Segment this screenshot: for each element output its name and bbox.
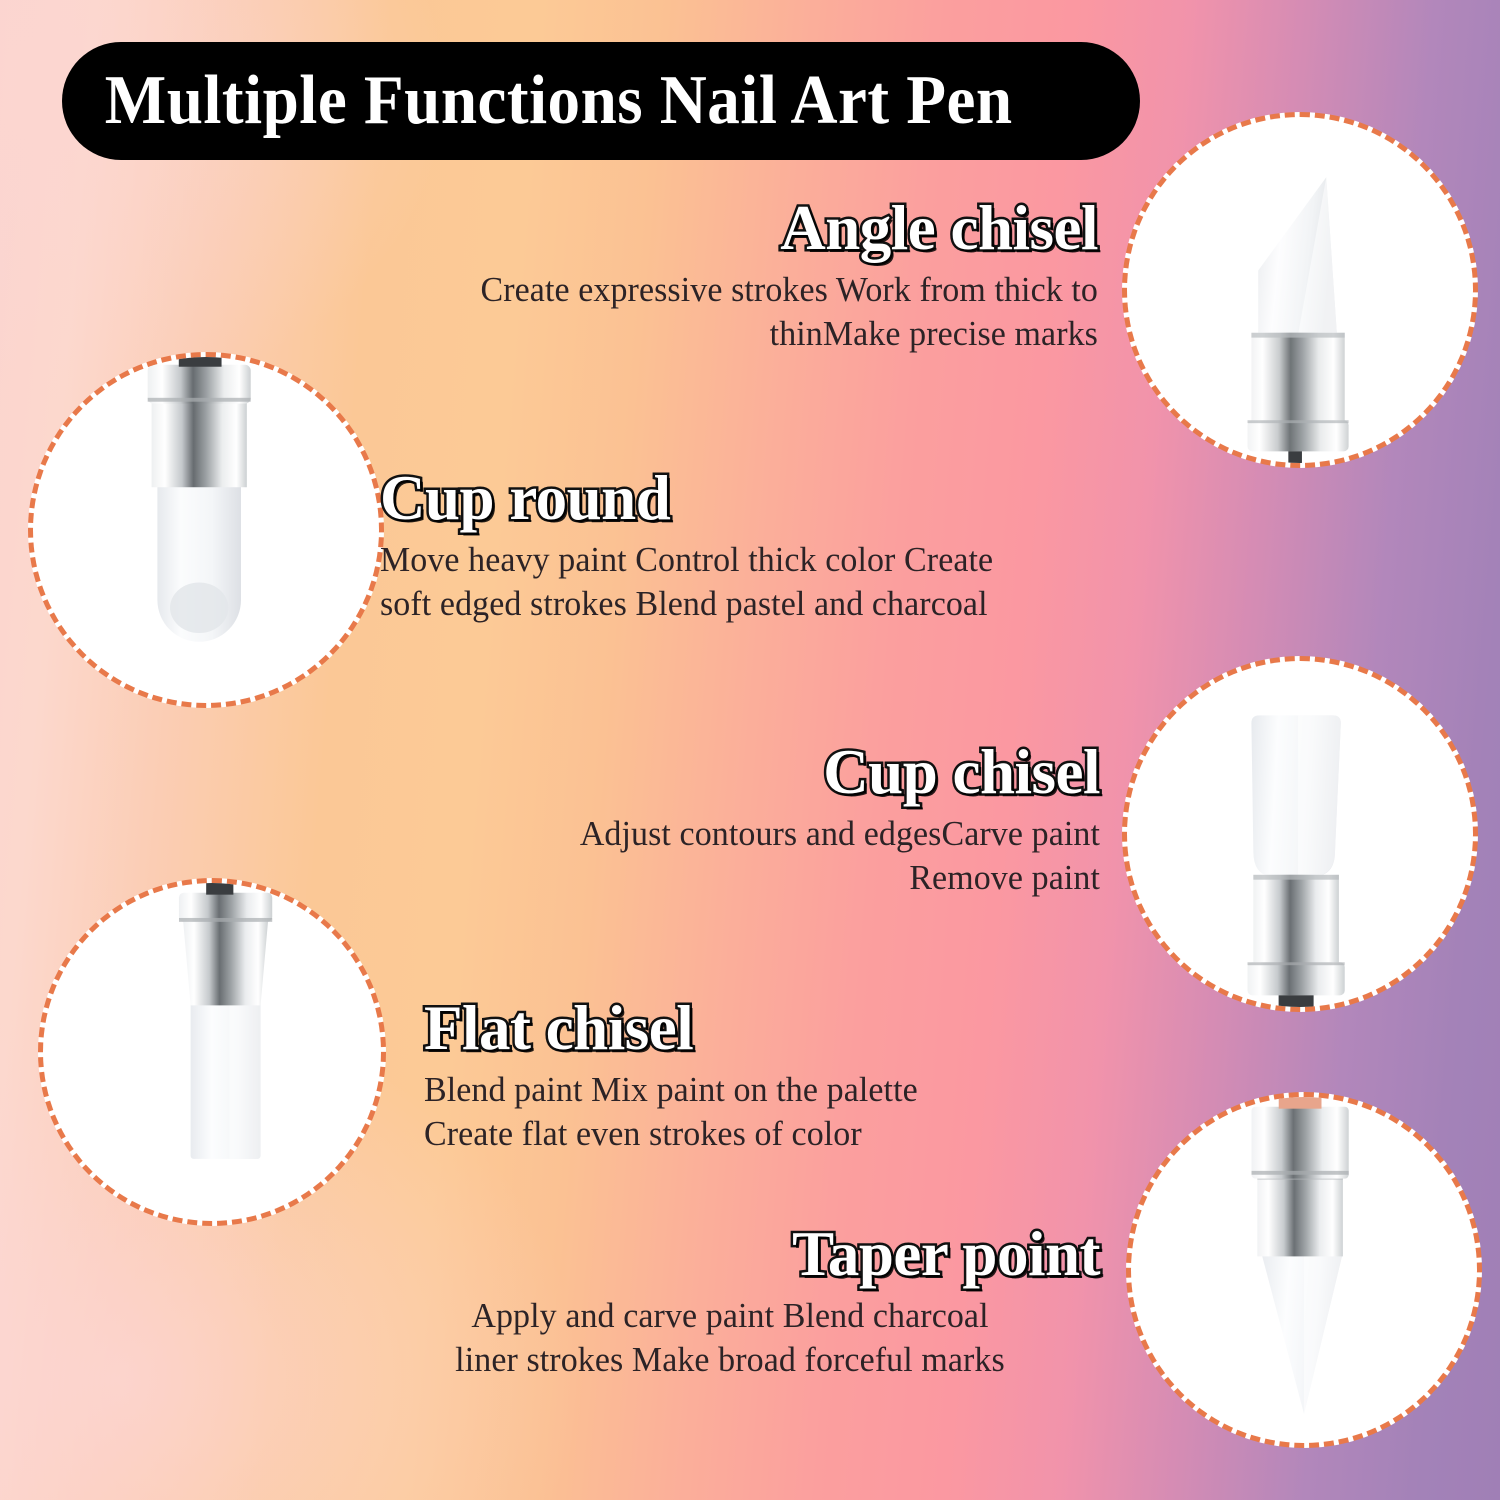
desc-line: Blend paint Mix paint on the palette (424, 1070, 918, 1109)
desc-line: Apply and carve paint Blend charcoal (471, 1296, 988, 1335)
cup-chisel-tip-icon (1127, 661, 1473, 1007)
infographic-poster: Multiple Functions Nail Art Pen (0, 0, 1500, 1500)
desc-line: soft edged strokes Blend pastel and char… (380, 584, 988, 623)
desc-line: Create flat even strokes of color (424, 1114, 862, 1153)
feature-block-angle-chisel: Angle chisel Create expressive strokes W… (258, 196, 1098, 356)
feature-block-cup-chisel: Cup chisel Adjust contours and edgesCarv… (370, 740, 1100, 900)
page-title: Multiple Functions Nail Art Pen (62, 66, 1013, 136)
flat-chisel-tip-icon (43, 883, 381, 1221)
desc-line: liner strokes Make broad forceful marks (455, 1340, 1005, 1379)
desc-line: thinMake precise marks (770, 314, 1098, 353)
feature-description-cup-round: Move heavy paint Control thick color Cre… (380, 538, 1195, 626)
tip-image-cup-round (28, 352, 384, 708)
feature-heading-cup-round: Cup round (380, 466, 1220, 532)
feature-heading-flat-chisel: Flat chisel (424, 996, 1084, 1062)
desc-line: Create expressive strokes Work from thic… (480, 270, 1098, 309)
feature-heading-angle-chisel: Angle chisel (258, 196, 1098, 262)
cup-round-tip-icon (33, 357, 379, 703)
feature-description-taper-point: Apply and carve paint Blend charcoal lin… (371, 1294, 1089, 1382)
taper-point-tip-icon (1131, 1097, 1477, 1443)
feature-block-taper-point: Taper point Apply and carve paint Blend … (360, 1222, 1100, 1382)
tip-image-cup-chisel (1122, 656, 1478, 1012)
feature-description-cup-chisel: Adjust contours and edgesCarve paint Rem… (392, 812, 1100, 900)
desc-line: Adjust contours and edgesCarve paint (580, 814, 1100, 853)
feature-heading-cup-chisel: Cup chisel (370, 740, 1100, 806)
feature-description-flat-chisel: Blend paint Mix paint on the palette Cre… (424, 1068, 1064, 1156)
feature-description-angle-chisel: Create expressive strokes Work from thic… (283, 268, 1098, 356)
tip-image-angle-chisel (1122, 112, 1478, 468)
feature-block-cup-round: Cup round Move heavy paint Control thick… (380, 466, 1220, 626)
tip-image-taper-point (1126, 1092, 1482, 1448)
feature-block-flat-chisel: Flat chisel Blend paint Mix paint on the… (424, 996, 1084, 1156)
desc-line: Remove paint (909, 858, 1100, 897)
title-pill: Multiple Functions Nail Art Pen (62, 42, 1140, 160)
desc-line: Move heavy paint Control thick color Cre… (380, 540, 993, 579)
feature-heading-taper-point: Taper point (360, 1222, 1100, 1288)
angle-chisel-tip-icon (1127, 117, 1473, 463)
tip-image-flat-chisel (38, 878, 386, 1226)
